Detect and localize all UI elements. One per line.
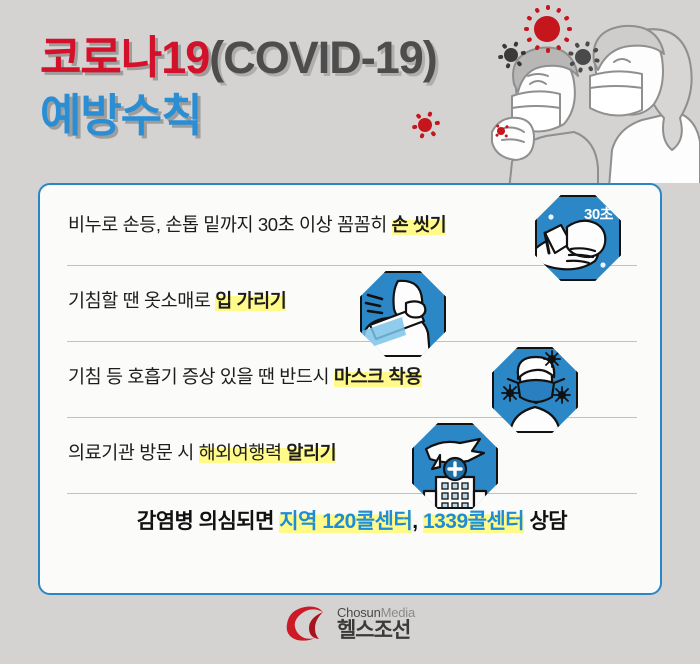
rule-1-plain: 비누로 손등, 손톱 밑까지 30초 이상 꼼꼼히	[68, 214, 392, 235]
virus-particle-dark-small	[498, 42, 524, 68]
logo-brand-chosun: Chosun	[337, 605, 381, 620]
rule-divider-2	[67, 341, 637, 342]
call-line-part1: 감염병 의심되면	[137, 510, 279, 533]
rule-4-highlight: 알리기	[286, 442, 336, 463]
virus-particle-red-tiny	[494, 124, 508, 138]
masked-people-illustration	[490, 0, 700, 200]
rule-1-highlight: 손 씻기	[392, 214, 447, 235]
call-center-local: 지역 120콜센터	[279, 510, 412, 533]
title-english: (COVID-19)	[209, 32, 437, 83]
hand-washing-icon: 30초	[535, 195, 621, 281]
rule-2-plain: 기침할 땐 옷소매로	[68, 290, 215, 311]
chosun-c-mark-icon	[285, 604, 327, 644]
infographic-page: 코로나19(COVID-19) 예방수칙 비누로 손등, 손톱 밑까지 30초 …	[0, 0, 700, 664]
rule-text-4: 의료기관 방문 시 해외여행력 알리기	[68, 439, 336, 465]
virus-particle-large-red	[524, 6, 570, 52]
virus-particle-red-mid	[412, 112, 438, 138]
hospital-travel-history-icon	[412, 423, 498, 509]
call-line-part2: 상담	[524, 510, 567, 533]
rule-text-3: 기침 등 호흡기 증상 있을 땐 반드시 마스크 착용	[68, 363, 422, 389]
rule-divider-4	[67, 493, 637, 494]
call-line-comma: ,	[412, 510, 423, 533]
rule-4-plain: 의료기관 방문 시	[68, 442, 199, 463]
logo-brand-korean: 헬스조선	[337, 620, 415, 642]
rule-4-highlight-plain: 해외여행력	[199, 442, 287, 463]
rule-text-1: 비누로 손등, 손톱 밑까지 30초 이상 꼼꼼히 손 씻기	[68, 211, 446, 237]
wear-mask-icon	[492, 347, 578, 433]
rule-3-plain: 기침 등 호흡기 증상 있을 땐 반드시	[68, 366, 334, 387]
page-title-line-2: 예방수칙	[40, 90, 202, 142]
page-title-line-1: 코로나19(COVID-19)	[40, 32, 437, 84]
cough-into-sleeve-icon	[360, 271, 446, 357]
hand-washing-badge-label: 30초	[584, 203, 613, 224]
call-center-line: 감염병 의심되면 지역 120콜센터, 1339콜센터 상담	[40, 505, 664, 535]
title-korean: 코로나19	[40, 32, 209, 83]
header-banner: 코로나19(COVID-19) 예방수칙	[0, 0, 700, 183]
logo-brand-media: Media	[381, 605, 415, 620]
virus-particle-dark	[568, 42, 598, 72]
publisher-logo: ChosunMedia 헬스조선	[0, 604, 700, 660]
call-center-1339: 1339콜센터	[423, 510, 524, 533]
prevention-rules-card: 비누로 손등, 손톱 밑까지 30초 이상 꼼꼼히 손 씻기 기침할 땐 옷소매…	[38, 183, 662, 595]
rule-text-2: 기침할 땐 옷소매로 입 가리기	[68, 287, 286, 313]
rule-3-highlight: 마스크 착용	[334, 366, 422, 387]
rule-2-highlight: 입 가리기	[215, 290, 286, 311]
logo-brand-top: ChosunMedia	[337, 606, 415, 620]
